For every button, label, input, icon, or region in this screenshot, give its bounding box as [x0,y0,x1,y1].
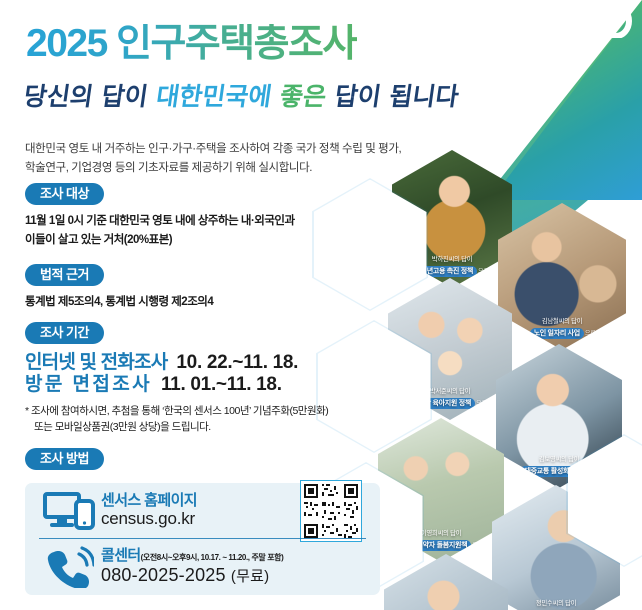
section-survey-target: 조사 대상 11월 1일 0시 기준 대한민국 영토 내에 상주하는 내·외국인… [25,183,295,250]
caption-person-4: 이영희씨의 답이 [421,530,462,537]
period-label-visit: 방문 면접조사 [25,374,152,396]
web-url[interactable]: census.go.kr [101,509,300,529]
period-date-online: 10. 22.~11. 18. [176,352,298,374]
tel-hours: (오전8시~오후9시, 10.17. ~ 11.20., 주말 포함) [141,553,284,562]
contact-tel-row[interactable]: 콜센터(오전8시~오후9시, 10.17. ~ 11.20., 주말 포함) 0… [25,539,380,594]
photo-tile-senior-jobs: 김남철씨의 답이 노인 일자리 사업으로 [498,203,626,350]
page-title: 2025 인구주택총조사 [26,24,357,63]
survey-period-rows: 인터넷 및 전화조사 10. 22.~11. 18. 방문 면접조사 11. 0… [25,352,328,397]
contact-web-row[interactable]: 센서스 홈페이지 census.go.kr [25,483,380,538]
caption-policy-1: 노인 일자리 사업 [530,328,584,339]
tel-title: 콜센터 [101,547,141,564]
period-note-line-1: * 조사에 참여하시면, 추첨을 통해 ‘한국의 센서스 100년’ 기념주화(… [25,405,328,417]
survey-period-note: * 조사에 참여하시면, 추첨을 통해 ‘한국의 센서스 100년’ 기념주화(… [25,403,328,436]
caption-person-5: 정민수씨의 답이 [536,600,577,607]
survey-target-line-1: 11월 1일 0시 기준 대한민국 영토 내에 상주하는 내·외국인과 [25,212,295,231]
contact-web-text: 센서스 홈페이지 census.go.kr [101,492,300,530]
contact-tel-text: 콜센터(오전8시~오후9시, 10.17. ~ 11.20., 주말 포함) 0… [101,547,366,587]
period-row-visit: 방문 면접조사 11. 01.~11. 18. [25,374,328,396]
census-100-logo: 2025 Census 센서스 100년 [514,4,632,38]
badge-survey-method: 조사 방법 [25,448,104,470]
badge-legal-basis: 법적 근거 [25,264,104,286]
caption-tail-1: 으로 [585,331,595,337]
subtitle-slogan: 당신의 답이 대한민국에 좋은 답이 됩니다 [22,84,460,109]
section-survey-period: 조사 기간 인터넷 및 전화조사 10. 22.~11. 18. 방문 면접조사… [25,322,328,435]
survey-target-text: 11월 1일 0시 기준 대한민국 영토 내에 상주하는 내·외국인과 이들이 … [25,212,295,250]
qr-code[interactable] [300,480,362,542]
period-row-online: 인터넷 및 전화조사 10. 22.~11. 18. [25,352,328,374]
badge-survey-target: 조사 대상 [25,183,104,205]
contact-card: 센서스 홈페이지 census.go.kr [25,483,380,595]
badge-survey-period: 조사 기간 [25,322,104,344]
caption-person-0: 박하진씨의 답이 [432,256,473,263]
slogan-part-1: 당신의 답이 [22,82,158,111]
caption-senior-jobs: 김남철씨의 답이 노인 일자리 사업으로 [498,318,626,339]
caption-tail-2: 으로 [476,401,486,407]
caption-person-3: 김보영씨의 답이 [539,456,580,463]
logo-korean-text: 센서스 100년 [514,30,572,38]
tel-title-row: 콜센터(오전8시~오후9시, 10.17. ~ 11.20., 주말 포함) [101,547,366,565]
period-label-online: 인터넷 및 전화조사 [25,352,167,374]
legal-basis-line-1: 통계법 제5조의4, 통계법 시행령 제2조의4 [25,293,213,312]
slogan-part-2: 대한민국에 [154,82,282,111]
photo-collage: 박하진씨의 답이 청년고용 촉진 정책으로 김남철씨의 답이 노인 일자리 사업… [370,150,642,610]
period-note-line-2: 또는 모바일상품권(3만원 상당)을 드립니다. [25,419,328,435]
slogan-part-4: 답이 됩니다 [333,82,461,111]
logo-census-text: Census [514,12,572,29]
period-date-visit: 11. 01.~11. 18. [161,374,282,396]
caption-person-1: 김남철씨의 답이 [542,318,583,325]
legal-basis-text: 통계법 제5조의4, 통계법 시행령 제2조의4 [25,293,213,312]
caption-person-2: 박서준씨의 답이 [430,388,471,395]
contact-divider [39,538,366,539]
caption-tail-0: 으로 [478,269,488,275]
monitor-mobile-icon [39,491,101,531]
logo-wordmark: 2025 Census 센서스 100년 [514,5,572,38]
intro-paragraph: 대한민국 영토 내 거주하는 인구·가구·주택을 조사하여 각종 국가 정책 수… [25,140,410,178]
phone-icon [39,546,101,588]
web-title: 센서스 홈페이지 [101,492,300,509]
logo-100-mark-icon [576,4,632,38]
caption-tail-4: 으로 [472,543,482,549]
tel-number: 080-2025-2025 [101,565,226,585]
tel-free-label: (무료) [231,568,269,585]
section-survey-method: 조사 방법 [25,448,104,470]
section-legal-basis: 법적 근거 통계법 제5조의4, 통계법 시행령 제2조의4 [25,264,213,312]
caption-single-household: 정민수씨의 답이 1인가구 주거지원 정책으로 [492,600,620,610]
survey-target-line-2: 이들이 살고 있는 거처(20%표본) [25,231,295,250]
slogan-part-3: 좋은 [278,82,337,111]
census-poster: 2025 Census 센서스 100년 2025 인구주택총조사 당신의 답이… [0,0,642,610]
tel-number-row[interactable]: 080-2025-2025 (무료) [101,565,366,587]
